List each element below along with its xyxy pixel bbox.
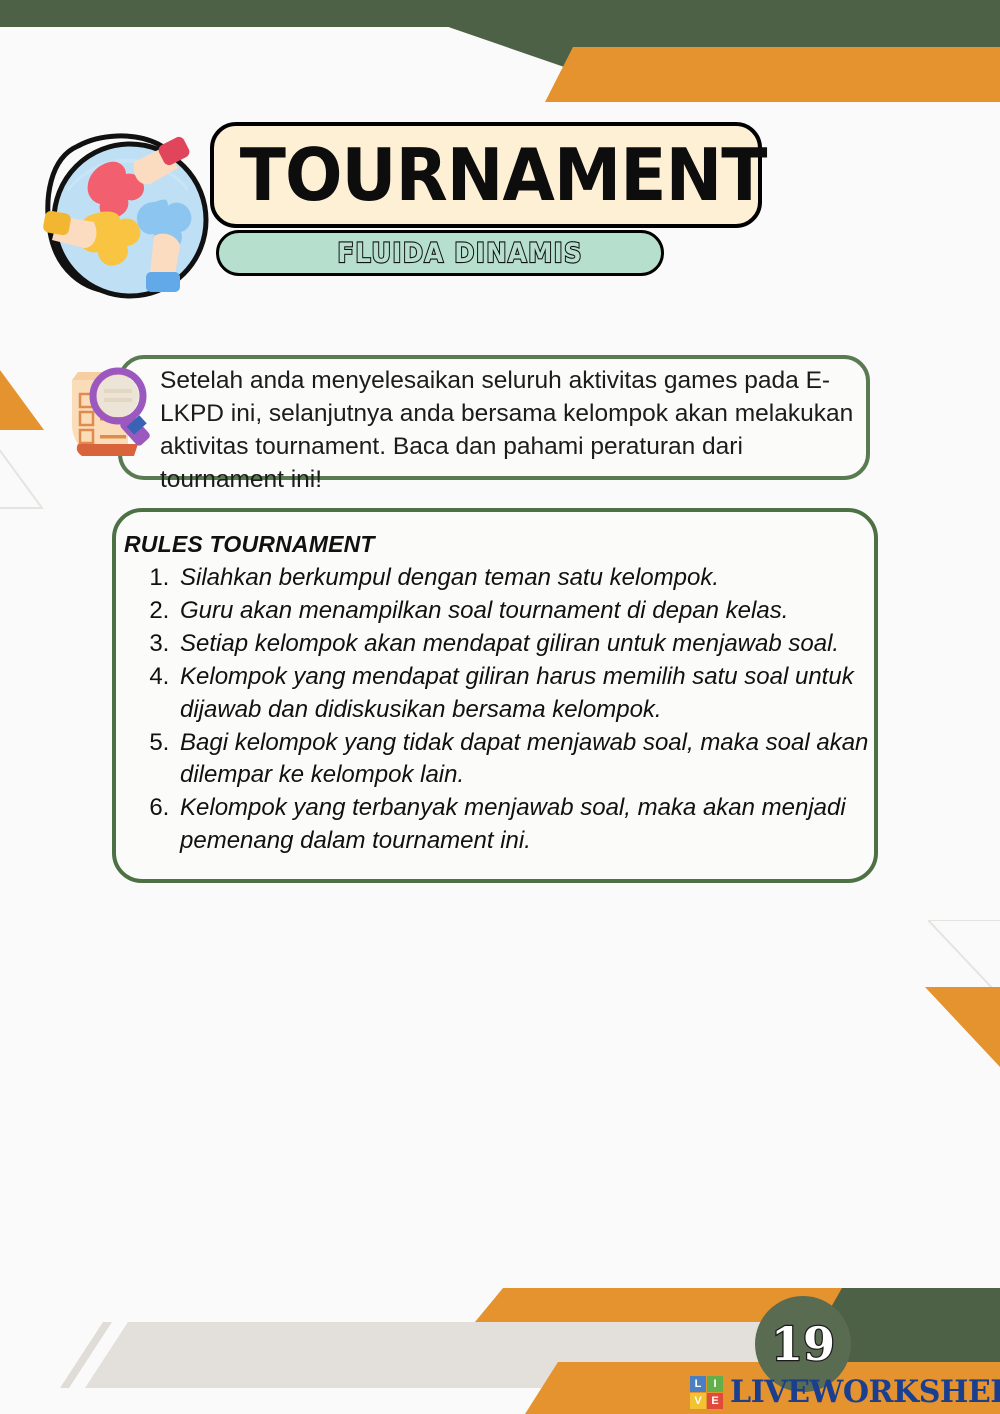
globe-puzzle-hands-icon xyxy=(38,128,216,303)
liveworksheets-logo-squares: L I V E xyxy=(690,1376,723,1409)
rule-item: Guru akan menampilkan soal tournament di… xyxy=(176,595,906,628)
footer-orange-band-top xyxy=(470,1288,1000,1328)
footer-grey-sliver xyxy=(60,1322,120,1388)
rules-list: Silahkan berkumpul dengan teman satu kel… xyxy=(140,562,906,858)
intro-text: Setelah anda menyelesaikan seluruh aktiv… xyxy=(160,364,860,496)
top-orange-band xyxy=(0,47,1000,102)
liveworksheets-wordmark: LIVEWORKSHEETS xyxy=(730,1377,1000,1408)
right-orange-triangle xyxy=(925,987,1000,1099)
logo-square-e: E xyxy=(707,1393,723,1409)
page-title: TOURNAMENT xyxy=(206,139,767,211)
logo-square-v: V xyxy=(690,1393,706,1409)
top-green-band-secondary xyxy=(0,0,1000,100)
page-number: 19 xyxy=(771,1321,835,1367)
rule-item: Kelompok yang terbanyak menjawab soal, m… xyxy=(176,792,906,857)
logo-square-l: L xyxy=(690,1376,706,1392)
liveworksheets-logo: L I V E LIVEWORKSHEETS xyxy=(690,1375,1000,1409)
right-outline-triangle xyxy=(928,920,1000,1028)
rule-item: Kelompok yang mendapat giliran harus mem… xyxy=(176,661,906,726)
rule-item: Setiap kelompok akan mendapat giliran un… xyxy=(176,628,906,661)
title-pill: TOURNAMENT xyxy=(210,122,762,228)
logo-square-i: I xyxy=(707,1376,723,1392)
checklist-magnifier-icon xyxy=(56,358,164,466)
page-subtitle: FLUIDA DINAMIS xyxy=(297,240,582,267)
subtitle-pill: FLUIDA DINAMIS xyxy=(216,230,664,276)
rules-title: RULES TOURNAMENT xyxy=(124,531,375,558)
left-outline-triangle xyxy=(0,415,44,510)
top-green-band xyxy=(0,0,1000,100)
rule-item: Bagi kelompok yang tidak dapat menjawab … xyxy=(176,727,906,792)
rule-item: Silahkan berkumpul dengan teman satu kel… xyxy=(176,562,906,595)
worksheet-page: TOURNAMENT FLUIDA DINAMIS xyxy=(0,0,1000,1414)
left-orange-triangle xyxy=(0,340,44,430)
page-header: TOURNAMENT FLUIDA DINAMIS xyxy=(38,122,738,307)
